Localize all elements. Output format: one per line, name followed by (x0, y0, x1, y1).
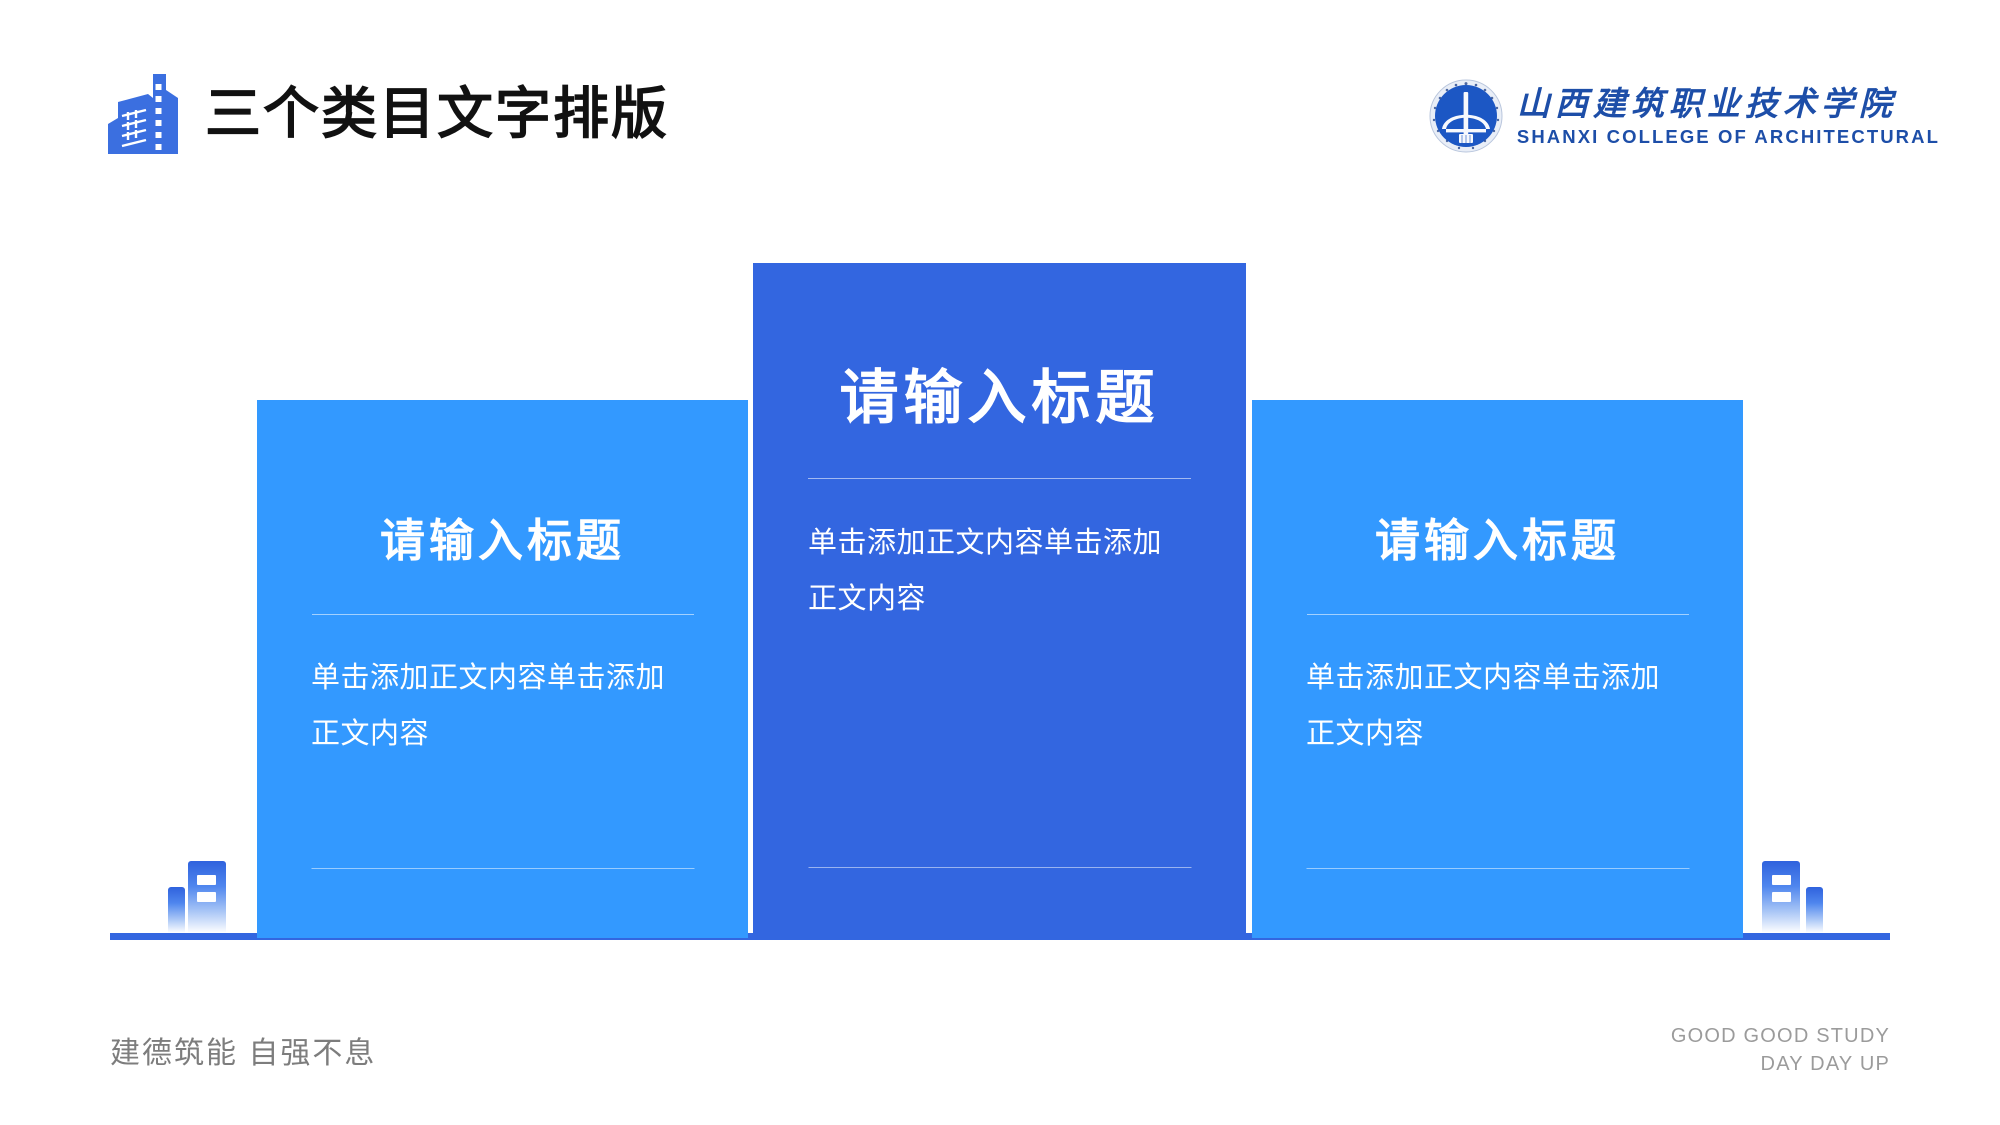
panel-title-left: 请输入标题 (257, 504, 748, 569)
panel-divider-left (312, 614, 694, 615)
university-name-en: SHANXI COLLEGE OF ARCHITECTURAL (1517, 125, 1940, 149)
university-name-cn: 山西建筑职业技术学院 (1517, 84, 1940, 124)
panel-divider-center (808, 478, 1191, 479)
panel-body-left: 单击添加正文内容单击添加正文内容 (311, 650, 694, 762)
panel-divider-right (1307, 614, 1689, 615)
building-silhouette-icon-right (1762, 861, 1852, 933)
panel-title-right: 请输入标题 (1252, 504, 1743, 569)
panel-footline-center (808, 867, 1191, 868)
footer-slogan-line1: GOOD GOOD STUDY (1671, 1022, 1890, 1050)
content-panel-right[interactable]: 请输入标题 单击添加正文内容单击添加正文内容 (1252, 400, 1743, 938)
content-panel-left[interactable]: 请输入标题 单击添加正文内容单击添加正文内容 (257, 400, 748, 938)
university-logo: 山西建筑职业技术学院 SHANXI COLLEGE OF ARCHITECTUR… (1429, 70, 1940, 162)
slide-canvas: 三个类目文字排版 (0, 0, 2000, 1125)
content-panel-center[interactable]: 请输入标题 单击添加正文内容单击添加正文内容 (753, 263, 1246, 938)
panel-footline-left (311, 868, 694, 869)
panel-body-center: 单击添加正文内容单击添加正文内容 (808, 515, 1191, 627)
panel-footline-right (1306, 868, 1689, 869)
panel-body-right: 单击添加正文内容单击添加正文内容 (1306, 650, 1689, 762)
building-icon (98, 68, 186, 160)
page-title: 三个类目文字排版 (205, 70, 669, 158)
footer-motto: 建德筑能 自强不息 (110, 1028, 376, 1072)
panel-title-center: 请输入标题 (753, 350, 1246, 435)
footer-slogan: GOOD GOOD STUDY DAY DAY UP (1671, 1022, 1890, 1078)
university-crest-icon (1429, 79, 1503, 153)
building-silhouette-icon-left (150, 861, 240, 933)
footer-slogan-line2: DAY DAY UP (1671, 1050, 1890, 1078)
